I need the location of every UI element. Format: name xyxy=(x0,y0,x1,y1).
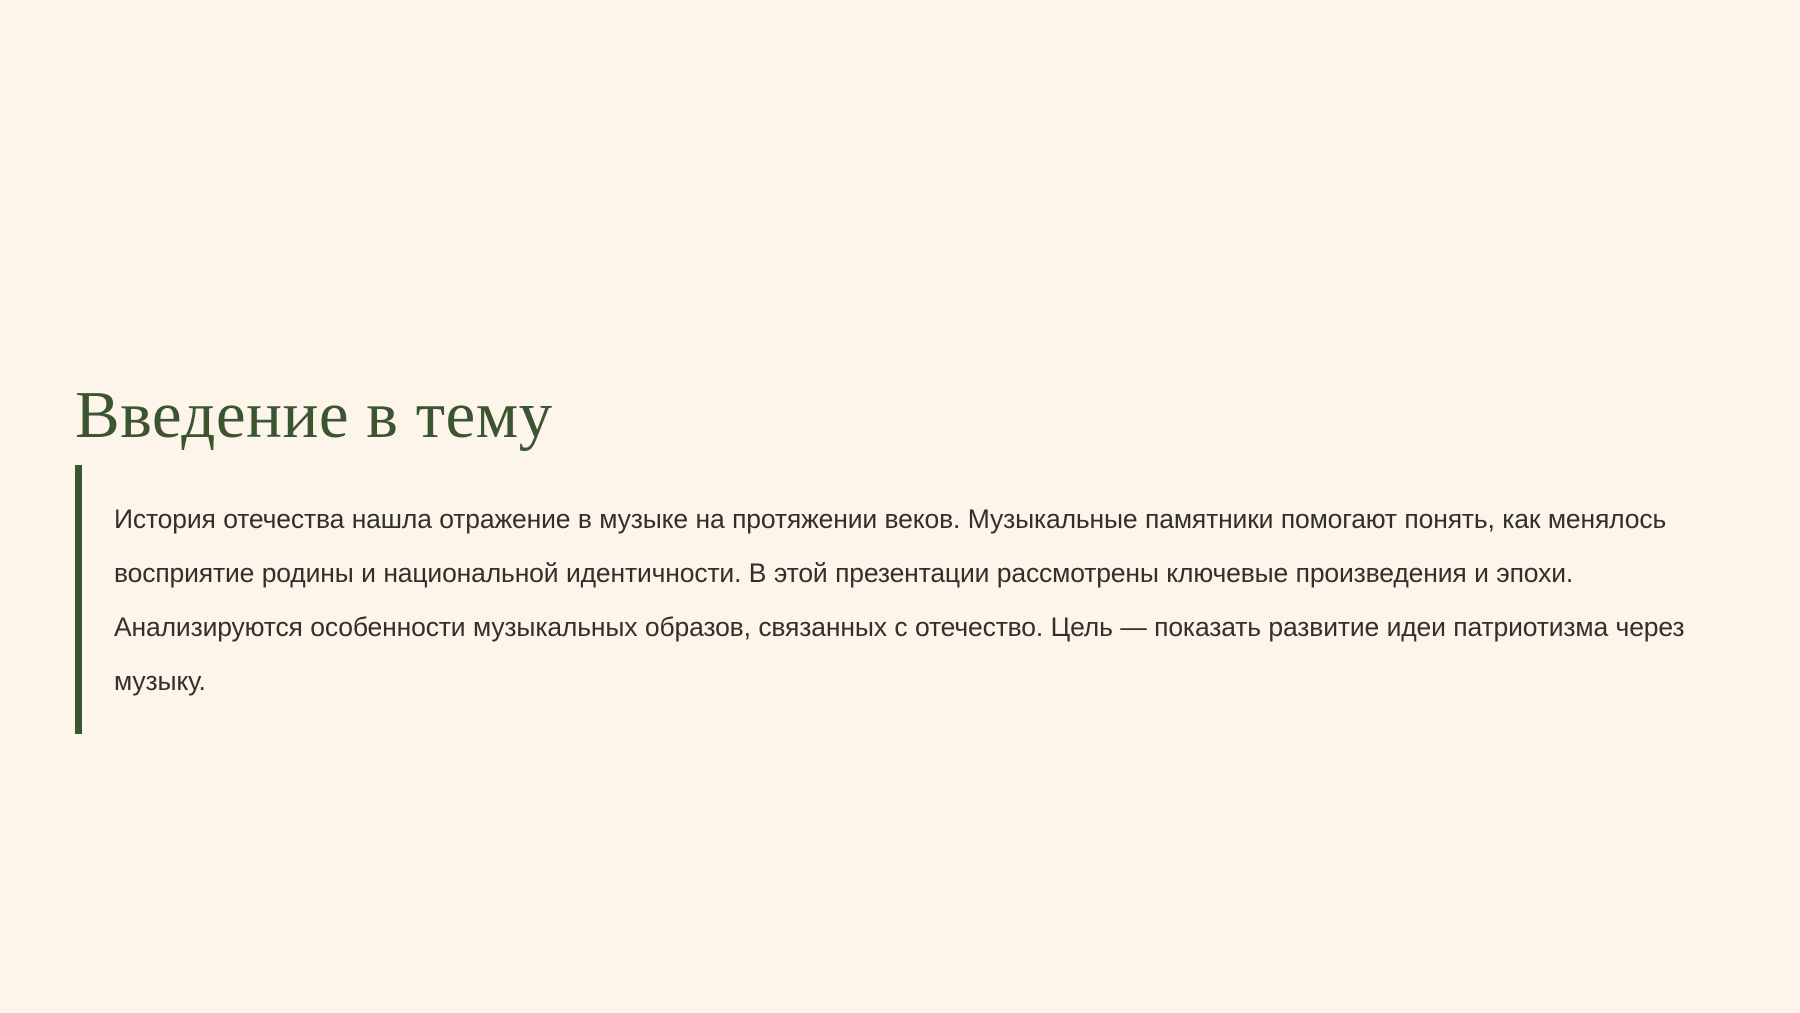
accent-bar xyxy=(75,465,82,734)
presentation-slide: Введение в тему История отечества нашла … xyxy=(0,0,1800,1013)
quote-block: История отечества нашла отражение в музы… xyxy=(75,465,1705,734)
body-paragraph: История отечества нашла отражение в музы… xyxy=(82,492,1705,708)
page-title: Введение в тему xyxy=(75,382,553,449)
